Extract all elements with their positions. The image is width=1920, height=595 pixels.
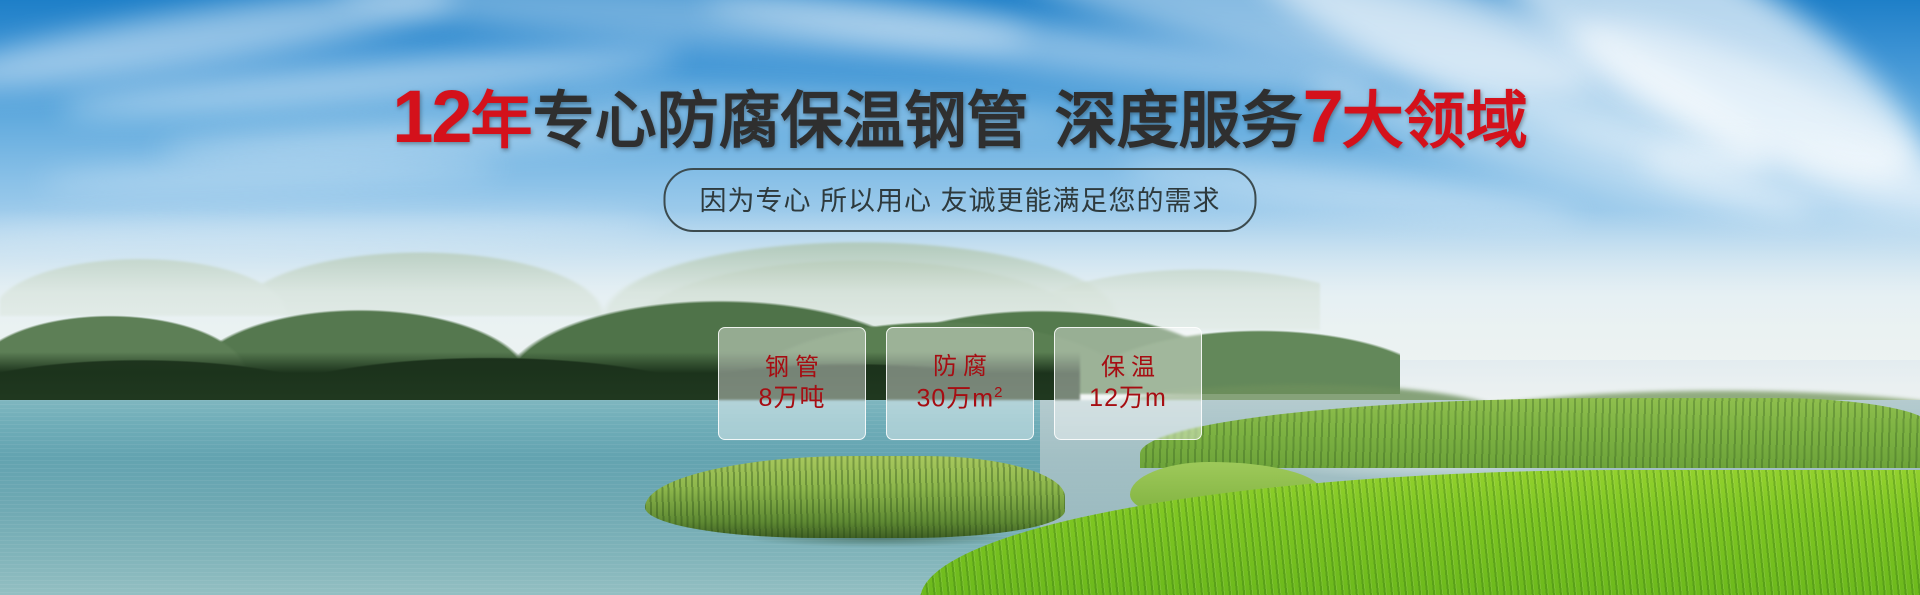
stat-card-title: 保温 xyxy=(1095,356,1161,380)
headline-years-unit: 年 xyxy=(471,87,533,156)
stat-card-value-sup: 2 xyxy=(994,384,1003,401)
hero-banner: 12年专心防腐保温钢管深度服务7大领域 因为专心 所以用心 友诚更能满足您的需求… xyxy=(0,0,1920,595)
stat-card-value: 12万m xyxy=(1089,386,1167,411)
stat-card-anticorrosion: 防腐 30万m2 xyxy=(886,327,1034,440)
headline: 12年专心防腐保温钢管深度服务7大领域 xyxy=(0,80,1920,154)
stat-card-insulation: 保温 12万m xyxy=(1054,327,1202,440)
stat-card-value-text: 12万m xyxy=(1089,384,1167,412)
stat-card-title: 防腐 xyxy=(927,355,993,379)
stat-card-value-text: 8万吨 xyxy=(759,384,826,412)
stat-card-group: 钢管 8万吨 防腐 30万m2 保温 12万m xyxy=(718,327,1202,440)
stat-card-value: 30万m2 xyxy=(917,385,1004,411)
stat-card-value: 8万吨 xyxy=(759,386,826,411)
headline-years-number: 12 xyxy=(392,75,470,158)
headline-main-text: 专心防腐保温钢管 xyxy=(533,87,1029,156)
stat-card-value-text: 30万m xyxy=(917,385,995,413)
stat-card-title: 钢管 xyxy=(759,356,825,380)
stat-card-steel-pipe: 钢管 8万吨 xyxy=(718,327,866,440)
headline-fields-number: 7 xyxy=(1303,75,1342,158)
headline-service-text: 深度服务 xyxy=(1055,87,1303,156)
headline-fields-unit: 大领域 xyxy=(1342,87,1528,156)
subtitle-pill: 因为专心 所以用心 友诚更能满足您的需求 xyxy=(663,168,1256,232)
